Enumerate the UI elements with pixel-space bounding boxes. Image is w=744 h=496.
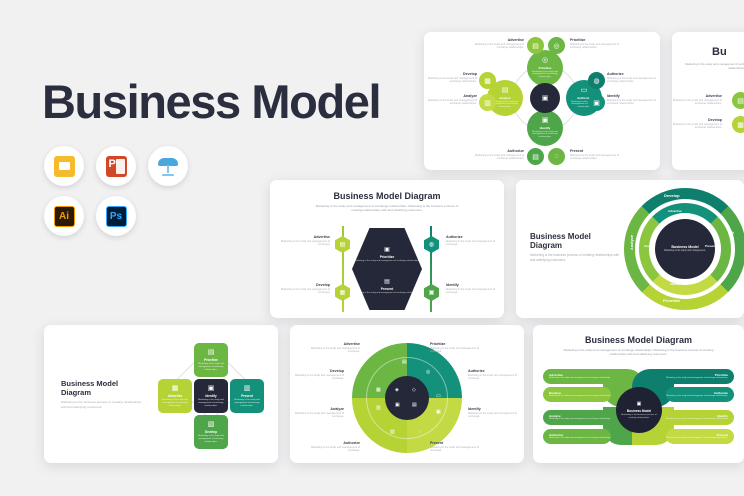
illustrator-icon[interactable]: Ai xyxy=(44,196,84,236)
pill-desc: Marketing is the study and management of… xyxy=(666,395,728,398)
slide-thumbnail-mandala[interactable]: ◎ Prioritize Marketing is the study and … xyxy=(424,32,660,170)
label-name: Analyze xyxy=(292,407,344,411)
center-label: Business Model xyxy=(627,409,651,413)
label-desc: Marketing is the study and management of… xyxy=(430,347,482,354)
spoke-icon-identify: ▣ xyxy=(436,409,441,415)
label-develop: Develop Marketing is the study and manag… xyxy=(278,283,330,295)
satellite-analyze[interactable]: ▥ xyxy=(479,94,496,111)
label-name: Present xyxy=(570,149,622,153)
pill-desc: Marketing is the study and management of… xyxy=(549,395,611,398)
label-authorize-bottom: Authorize Marketing is the study and man… xyxy=(308,441,360,453)
label-desc: Marketing is the study and management of… xyxy=(292,412,344,419)
label-develop: Develop Marketing is the study and manag… xyxy=(425,72,477,84)
spoke-icon-develop: ▦ xyxy=(376,387,381,393)
label-desc: Marketing is the study and management of… xyxy=(570,43,622,50)
card-desc: Marketing is the study and management of… xyxy=(197,399,226,407)
slide-title: Business Model Diagram xyxy=(533,335,744,345)
spoke-icon-authorize: ▭ xyxy=(436,393,441,399)
card-desc: Marketing is the study and management of… xyxy=(197,435,226,443)
inner-label-present: Present xyxy=(705,244,716,248)
inner-label-analyze: Analyze xyxy=(644,244,655,248)
slides-glyph xyxy=(54,156,75,177)
label-desc: Marketing is the study and management of… xyxy=(278,288,330,295)
label-authorize-bottom: Authorize Marketing is the study and man… xyxy=(472,149,524,161)
pill-develop[interactable]: Develop Marketing is the study and manag… xyxy=(543,387,611,402)
photoshop-icon[interactable]: Ps xyxy=(96,196,136,236)
core-icon-4: ▤ xyxy=(412,402,417,408)
label-name: Prioritize xyxy=(570,38,622,42)
node-label: Prioritize xyxy=(539,66,552,70)
poster-canvas: Business Model Ai Ps ◎ Prioritize xyxy=(0,0,744,496)
slide-subtitle: Marketing is the study and management of… xyxy=(559,348,719,357)
label-advertise: Advertise Marketing is the study and man… xyxy=(308,342,360,354)
card-present[interactable]: ▥ Present Marketing is the study and man… xyxy=(230,379,264,413)
pill-authorize-right[interactable]: Authorize Marketing is the study and man… xyxy=(666,387,734,402)
outer-label-authorize: Authorize xyxy=(731,231,736,249)
core-icon-1: ◈ xyxy=(395,387,399,393)
center-desc: Marketing is the business process of cre… xyxy=(621,414,658,420)
label-name: Present xyxy=(430,441,482,445)
label-name: Authorize xyxy=(446,235,498,239)
card-label: Present xyxy=(241,394,253,398)
cart-icon: ▦ xyxy=(172,384,179,392)
label-authorize: Authorize Marketing is the study and man… xyxy=(446,235,498,247)
slide-title-fragment: Bu xyxy=(712,46,727,58)
label-prioritize: Prioritize Marketing is the study and ma… xyxy=(570,38,622,50)
slide-thumbnail-hexagon[interactable]: Business Model Diagram Marketing is the … xyxy=(270,180,504,318)
label-advertise: Advertise Marketing is the study and man… xyxy=(278,235,330,247)
inner-label-identify: Identify xyxy=(670,282,681,286)
slide-thumbnail-donut[interactable]: Business Model Diagram Marketing is the … xyxy=(516,180,744,318)
card-label: Identify xyxy=(205,394,216,398)
label-name: Advertise xyxy=(278,235,330,239)
label-desc: Marketing is the study and management of… xyxy=(672,123,722,130)
page-title: Business Model xyxy=(42,74,380,129)
label-desc: Marketing is the study and management of… xyxy=(425,99,477,106)
outer-label-develop: Develop xyxy=(664,193,680,198)
powerpoint-icon[interactable] xyxy=(96,146,136,186)
app-icon-row-primary xyxy=(44,146,188,186)
hex-advertise[interactable]: ▤ xyxy=(335,236,350,253)
card-develop[interactable]: ▧ Develop Marketing is the study and man… xyxy=(194,415,228,449)
slide-thumbnail-cross[interactable]: Business Model Diagram Marketing is the … xyxy=(44,325,278,463)
node-desc: Marketing is the study and management of… xyxy=(531,71,560,79)
label-name: Analyze xyxy=(425,94,477,98)
label-present: Present Marketing is the study and manag… xyxy=(570,149,622,161)
pill-prioritize[interactable]: Prioritize Marketing is the study and ma… xyxy=(666,369,734,384)
label-name: Identify xyxy=(446,283,498,287)
spoke-icon-prioritize: ◎ xyxy=(426,369,430,375)
pill-analyze[interactable]: Analyze Marketing is the study and manag… xyxy=(543,410,611,425)
spoke-icon-advertise: ▤ xyxy=(402,359,407,365)
label-desc: Marketing is the study and management of… xyxy=(468,412,520,419)
label-desc: Marketing is the study and management of… xyxy=(468,374,520,381)
label-name: Authorize xyxy=(607,72,659,76)
slide-thumbnail-quadwheel[interactable]: ▤ ◎ ▦ ▭ ▥ ▣ ▧ ◌ ◈ ◇ ▣ ▤ Advertise Market… xyxy=(290,325,524,463)
outer-label-prioritize: Prioritize xyxy=(663,298,680,303)
label-desc: Marketing is the study and management of… xyxy=(430,446,482,453)
chart-icon: ▤ xyxy=(502,87,509,94)
core-desc: Marketing is the study and management. xyxy=(662,250,709,253)
pill-desc: Marketing is the study and management of… xyxy=(549,437,611,440)
label-desc: Marketing is the study and management of… xyxy=(472,154,524,161)
donut-core[interactable]: Business Model Marketing is the study an… xyxy=(655,219,715,279)
label-desc: Marketing is the study and management of… xyxy=(607,77,659,84)
label-desc: Marketing is the study and management of… xyxy=(425,77,477,84)
label-name: Identify xyxy=(607,94,659,98)
inner-label-advertise: Advertise xyxy=(668,209,682,213)
satellite-develop[interactable]: ▦ xyxy=(732,116,744,133)
keynote-glyph xyxy=(157,156,179,176)
label-identify: Identify Marketing is the study and mana… xyxy=(607,94,659,106)
node-identify[interactable]: ▣ Identify Marketing is the study and ma… xyxy=(527,110,563,146)
google-slides-icon[interactable] xyxy=(44,146,84,186)
hex-authorize[interactable]: ◍ xyxy=(424,236,439,253)
slide-title: Business Model Diagram xyxy=(61,379,146,397)
label-name: Advertise xyxy=(672,94,722,98)
pill-desc: Marketing is the study and management of… xyxy=(666,377,728,380)
ppt-glyph xyxy=(106,156,127,177)
screen-icon: ▥ xyxy=(244,384,251,392)
satellite-advertise[interactable]: ▤ xyxy=(527,37,544,54)
label-desc: Marketing is the study and management of… xyxy=(308,446,360,453)
pill-desc: Marketing is the study and management of… xyxy=(666,418,728,421)
core-icon-3: ▣ xyxy=(395,402,400,408)
slide-subtitle: Marketing is the study and management of… xyxy=(312,204,462,213)
label-analyze: Analyze Marketing is the study and manag… xyxy=(292,407,344,419)
pill-present[interactable]: Present Marketing is the study and manag… xyxy=(666,429,734,444)
pill-authorize-left[interactable]: Authorize Marketing is the study and man… xyxy=(543,429,611,444)
center-circle[interactable]: ▣ Business Model Marketing is the busine… xyxy=(616,387,662,433)
bag-icon: ▤ xyxy=(208,348,215,356)
label-identify: Identify Marketing is the study and mana… xyxy=(468,407,520,419)
slide-title: Business Model Diagram xyxy=(270,191,504,201)
satellite-advertise[interactable]: ▤ xyxy=(732,92,744,109)
satellite-authorize-right[interactable]: ◍ xyxy=(588,72,605,89)
node-prioritize[interactable]: ◎ Prioritize Marketing is the study and … xyxy=(527,50,563,86)
satellite-prioritize[interactable]: ◎ xyxy=(548,37,565,54)
node-desc: Marketing is the study and management of… xyxy=(531,131,560,139)
label-desc: Marketing is the study and management of… xyxy=(570,154,622,161)
card-advertise[interactable]: ▦ Advertise Marketing is the study and m… xyxy=(158,379,192,413)
node-label: Analyze xyxy=(499,96,510,100)
spoke-icon-present: ◌ xyxy=(418,429,421,435)
core-label: Business Model xyxy=(671,245,698,249)
label-desc: Marketing is the study and management of… xyxy=(292,374,344,381)
pill-advertise[interactable]: Advertise Marketing is the study and man… xyxy=(543,369,611,384)
hex-inner-desc: Marketing is the study and management of… xyxy=(352,260,422,262)
label-desc: Marketing is the study and management of… xyxy=(446,288,498,295)
label-present: Present Marketing is the study and manag… xyxy=(430,441,482,453)
label-desc: Marketing is the study and management of… xyxy=(472,43,524,50)
label-name: Prioritize xyxy=(430,342,482,346)
satellite-present[interactable]: ◌ xyxy=(548,148,565,165)
label-develop: Develop Marketing is the study and manag… xyxy=(672,118,722,130)
pill-desc: Marketing is the study and management of… xyxy=(549,418,611,421)
slide-subtitle: Marketing is the business process of cre… xyxy=(61,400,146,409)
label-authorize: Authorize Marketing is the study and man… xyxy=(607,72,659,84)
label-name: Develop xyxy=(292,369,344,373)
slide-title: Business Model Diagram xyxy=(530,232,622,250)
label-desc: Marketing is the study and management of… xyxy=(308,347,360,354)
node-label: Identify xyxy=(540,126,551,130)
card-desc: Marketing is the study and management of… xyxy=(233,399,262,407)
satellite-identify[interactable]: ▣ xyxy=(588,94,605,111)
monitor-icon: ▣ xyxy=(352,246,422,253)
hex-develop[interactable]: ▦ xyxy=(335,284,350,301)
briefcase-icon: ▣ xyxy=(637,401,642,407)
label-desc: Marketing is the study and management of… xyxy=(278,240,330,247)
label-authorize: Authorize Marketing is the study and man… xyxy=(468,369,520,381)
label-name: Develop xyxy=(425,72,477,76)
screen-icon: ▤ xyxy=(352,278,422,285)
slide-thumbnail-cutoff[interactable]: Bu Marketing is the study and management… xyxy=(672,32,744,170)
spoke-icon-analyze: ▥ xyxy=(376,405,381,411)
label-name: Authorize xyxy=(308,441,360,445)
label-desc: Marketing is the study and management of… xyxy=(607,99,659,106)
label-identify: Identify Marketing is the study and mana… xyxy=(446,283,498,295)
briefcase-icon: ▣ xyxy=(542,95,549,102)
hex-inner-label: Prioritize xyxy=(352,255,422,259)
center-hexagon[interactable]: ▣ Prioritize Marketing is the study and … xyxy=(352,228,422,310)
satellite-develop[interactable]: ▦ xyxy=(479,72,496,89)
label-name: Develop xyxy=(672,118,722,122)
card-identify[interactable]: ▣ Identify Marketing is the study and ma… xyxy=(194,379,228,413)
card-label: Advertise xyxy=(168,394,183,398)
hex-inner-desc: Marketing is the study and management of… xyxy=(352,292,422,294)
outer-label-analyze: Analyze xyxy=(629,235,634,250)
card-label: Develop xyxy=(205,430,217,434)
card-label: Prioritize xyxy=(204,358,218,362)
ai-glyph: Ai xyxy=(54,206,75,227)
label-name: Develop xyxy=(278,283,330,287)
node-center[interactable]: ▣ xyxy=(530,83,560,113)
label-name: Advertise xyxy=(308,342,360,346)
pill-desc: Marketing is the study and management of… xyxy=(549,377,611,380)
keynote-icon[interactable] xyxy=(148,146,188,186)
card-desc: Marketing is the study and management of… xyxy=(197,363,226,371)
slide-subtitle: Marketing is the study and management of… xyxy=(680,62,744,70)
label-advertise: Advertise Marketing is the study and man… xyxy=(472,38,524,50)
label-name: Advertise xyxy=(472,38,524,42)
label-desc: Marketing is the study and management of… xyxy=(446,240,498,247)
target-icon: ◎ xyxy=(542,57,548,64)
label-desc: Marketing is the study and management of… xyxy=(672,99,722,106)
monitor-icon: ▣ xyxy=(208,384,215,392)
label-name: Authorize xyxy=(472,149,524,153)
app-icon-row-adobe: Ai Ps xyxy=(44,196,136,236)
ps-glyph: Ps xyxy=(106,206,127,227)
slide-thumbnail-pills[interactable]: Business Model Diagram Marketing is the … xyxy=(533,325,744,463)
card-desc: Marketing is the study and management of… xyxy=(161,399,190,407)
label-name: Identify xyxy=(468,407,520,411)
wheel-core[interactable]: ◈ ◇ ▣ ▤ xyxy=(385,376,429,420)
hex-inner-label: Present xyxy=(352,287,422,291)
hex-identify[interactable]: ▣ xyxy=(424,284,439,301)
label-analyze: Analyze Marketing is the study and manag… xyxy=(425,94,477,106)
label-develop: Develop Marketing is the study and manag… xyxy=(292,369,344,381)
pill-desc: Marketing is the study and management of… xyxy=(666,437,728,440)
slide-subtitle: Marketing is the business process of cre… xyxy=(530,253,622,263)
label-prioritize: Prioritize Marketing is the study and ma… xyxy=(430,342,482,354)
label-advertise: Advertise Marketing is the study and man… xyxy=(672,94,722,106)
label-name: Authorize xyxy=(468,369,520,373)
folder-icon: ▭ xyxy=(581,87,588,94)
pill-identify[interactable]: Identify Marketing is the study and mana… xyxy=(666,410,734,425)
hexagon-group: ▣ Prioritize Marketing is the study and … xyxy=(270,222,504,318)
satellite-authorize-bottom[interactable]: ▤ xyxy=(527,148,544,165)
core-icon-2: ◇ xyxy=(412,387,416,393)
card-prioritize[interactable]: ▤ Prioritize Marketing is the study and … xyxy=(194,343,228,377)
spoke-icon-authorize2: ▧ xyxy=(390,429,395,435)
book-icon: ▣ xyxy=(542,117,549,124)
tools-icon: ▧ xyxy=(208,420,215,428)
